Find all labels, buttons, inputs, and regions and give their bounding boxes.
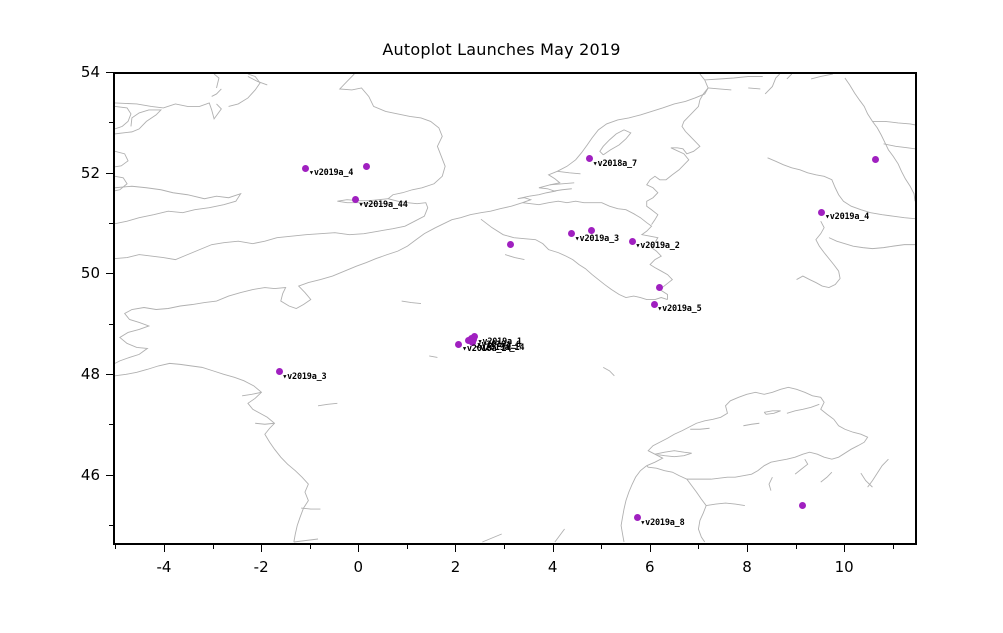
x-axis-tick (164, 545, 165, 552)
x-axis-tick (213, 545, 214, 549)
x-axis-tick (650, 545, 651, 552)
x-axis-tick (698, 545, 699, 549)
x-axis-tick (310, 545, 311, 549)
y-axis-tick (106, 72, 113, 73)
y-axis-tick (109, 424, 113, 425)
figure-canvas: Autoplot Launches May 2019 (0, 0, 1003, 633)
launch-point-label: ▾v2019a_8 (640, 519, 684, 528)
x-axis-tick-label: 0 (354, 558, 364, 576)
y-axis-tick (109, 122, 113, 123)
launch-point-label: ▾v2019a_44 (358, 201, 407, 210)
page-title: Autoplot Launches May 2019 (0, 40, 1003, 59)
launch-point-label: ▾v2019a_4 (825, 213, 869, 222)
y-axis-tick-label: 48 (81, 365, 100, 383)
launch-point-label: ▾v2019a_4 (309, 169, 353, 178)
y-axis-tick (106, 273, 113, 274)
basemap-layer (115, 74, 915, 543)
x-axis-tick (407, 545, 408, 549)
x-axis-tick (358, 545, 359, 552)
launch-point-label: ▾v2019a_2 (635, 242, 679, 251)
launch-point-label: ▾v2019a_3 (575, 235, 619, 244)
x-axis-tick-label: 6 (645, 558, 655, 576)
y-axis-tick (106, 475, 113, 476)
y-axis-tick-label: 52 (81, 164, 100, 182)
x-axis-tick (115, 545, 116, 549)
x-axis-tick (893, 545, 894, 549)
launch-point-label: ▾v2018a_7 (593, 160, 637, 169)
x-axis-tick-label: 4 (548, 558, 558, 576)
launch-point-marker[interactable] (468, 335, 475, 342)
y-axis-tick (109, 525, 113, 526)
x-axis-tick-label: -2 (254, 558, 269, 576)
y-axis-tick (109, 223, 113, 224)
launch-point-marker[interactable] (507, 241, 514, 248)
x-axis-tick (844, 545, 845, 552)
launch-point-marker[interactable] (872, 156, 879, 163)
x-axis-tick (747, 545, 748, 552)
x-axis-tick (261, 545, 262, 552)
plot-area: ▾v2019a_4▾v2019a_44▾v2018a_7▾v2019a_4▾v2… (113, 72, 917, 545)
y-axis-tick (109, 324, 113, 325)
launch-point-label: ▾v2018a_14 (462, 345, 511, 354)
coastline-svg (115, 74, 915, 543)
x-axis-tick-label: 8 (742, 558, 752, 576)
launch-point-marker[interactable] (656, 284, 663, 291)
launch-point-label: ▾v2019a_3 (282, 373, 326, 382)
y-axis-tick-label: 54 (81, 63, 100, 81)
y-axis-tick-label: 50 (81, 264, 100, 282)
y-axis-tick (106, 173, 113, 174)
x-axis-tick-label: 2 (451, 558, 461, 576)
x-axis-tick (553, 545, 554, 552)
x-axis-tick-label: 10 (835, 558, 854, 576)
launch-point-marker[interactable] (363, 163, 370, 170)
x-axis-tick (601, 545, 602, 549)
x-axis-tick (796, 545, 797, 549)
x-axis-tick (504, 545, 505, 549)
y-axis-tick (106, 374, 113, 375)
x-axis-tick (455, 545, 456, 552)
launch-point-label: ▾v2019a_5 (657, 305, 701, 314)
y-axis-tick-label: 46 (81, 466, 100, 484)
x-axis-tick-label: -4 (157, 558, 172, 576)
